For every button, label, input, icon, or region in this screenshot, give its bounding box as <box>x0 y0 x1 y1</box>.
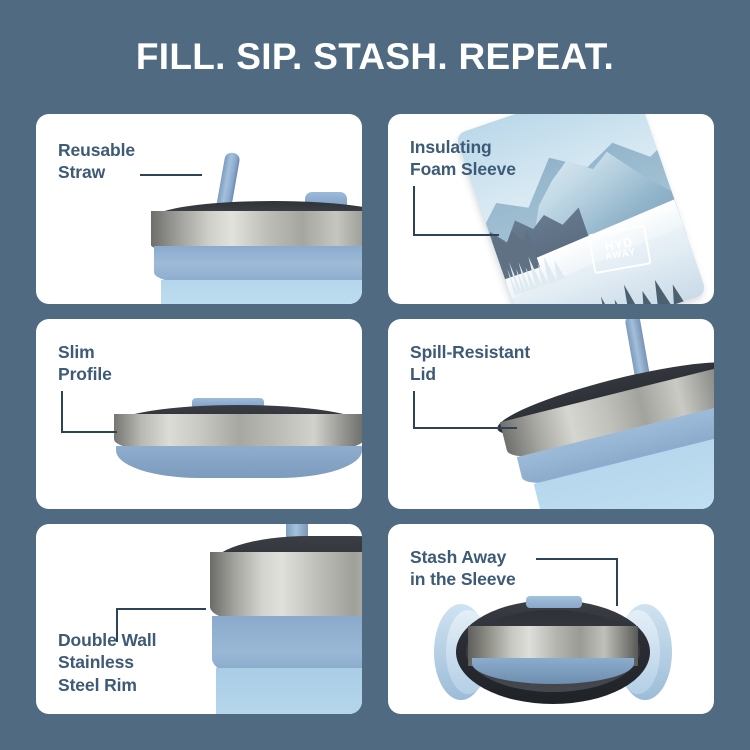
steel-band-shape <box>210 552 362 622</box>
feature-card-double-wall-stainless-steel-rim[interactable]: Double Wall Stainless Steel Rim <box>36 524 362 714</box>
feature-card-reusable-straw[interactable]: Reusable Straw <box>36 114 362 304</box>
card-label-slim-profile: Slim Profile <box>58 341 112 386</box>
infographic-header: FILL. SIP. STASH. REPEAT. <box>0 0 750 114</box>
leader-line-stash-away-in-the-sleeve <box>536 558 618 606</box>
leader-line-slim-profile <box>61 391 117 433</box>
page-title: FILL. SIP. STASH. REPEAT. <box>136 36 614 78</box>
card-label-insulating-foam-sleeve: Insulating Foam Sleeve <box>410 136 516 181</box>
silicone-ring-shape <box>212 616 362 676</box>
tumbler-body-shape <box>161 280 362 304</box>
feature-card-insulating-foam-sleeve[interactable]: HYD AWAY Insulating Foam Sleeve <box>388 114 714 304</box>
card-label-stash-away-in-the-sleeve: Stash Away in the Sleeve <box>410 546 516 591</box>
leader-line-double-wall-stainless-steel-rim <box>116 608 206 642</box>
leader-line-insulating-foam-sleeve <box>413 186 499 236</box>
tumbler-body-shape <box>216 668 362 714</box>
leader-line-reusable-straw <box>140 174 202 178</box>
feature-card-slim-profile[interactable]: Slim Profile <box>36 319 362 509</box>
feature-card-stash-away-in-the-sleeve[interactable]: Stash Away in the Sleeve <box>388 524 714 714</box>
silicone-base-shape <box>116 446 362 478</box>
card-label-reusable-straw: Reusable Straw <box>58 139 135 184</box>
feature-card-spill-resistant-lid[interactable]: Spill-Resistant Lid <box>388 319 714 509</box>
feature-card-grid: Reusable Straw HYD AWAY In <box>36 114 714 715</box>
card-label-spill-resistant-lid: Spill-Resistant Lid <box>410 341 530 386</box>
leader-line-spill-resistant-lid <box>413 391 517 429</box>
